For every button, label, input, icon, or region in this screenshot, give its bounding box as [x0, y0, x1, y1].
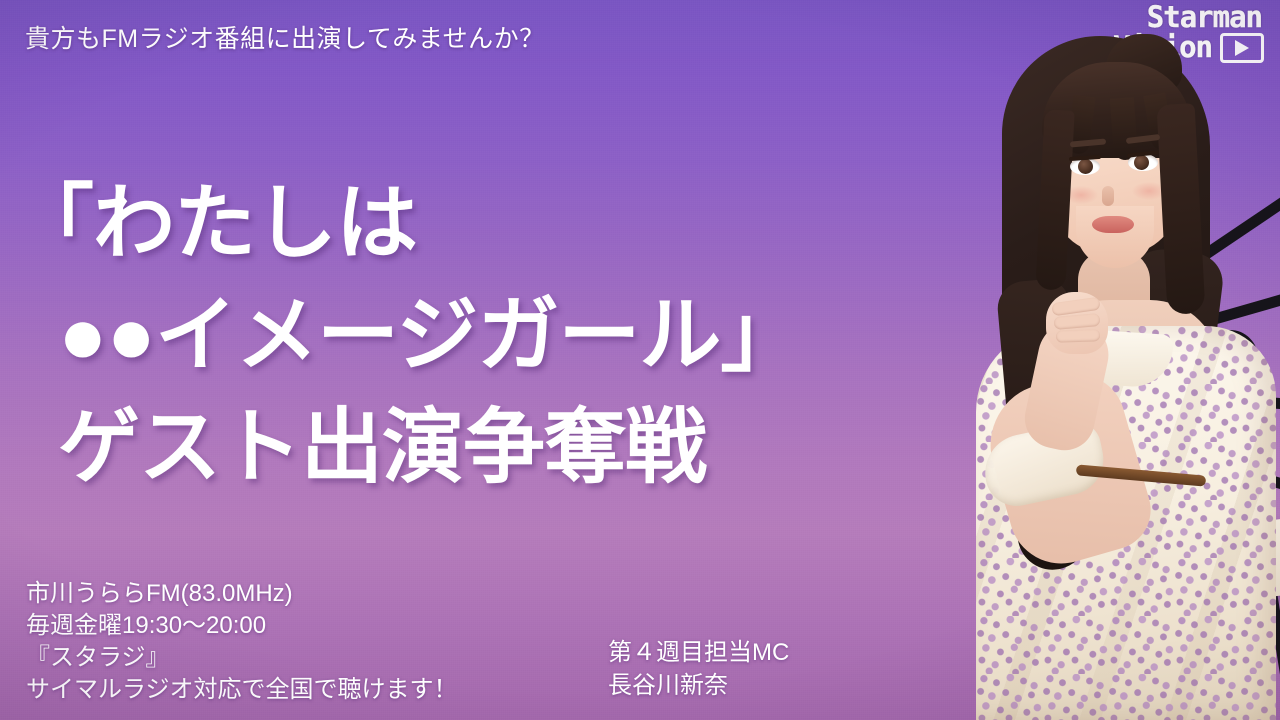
- hair-bang-strand-2: [1110, 97, 1138, 161]
- title-line-2: ●●イメージガール」: [0, 280, 960, 392]
- mc-role: 第４週目担当MC: [608, 636, 789, 669]
- station-name: 市川うららFM(83.0MHz): [26, 578, 458, 610]
- main-title: 「わたしは ●●イメージガール」 ゲスト出演争奪戦: [0, 168, 960, 504]
- program-name: 『スタラジ』: [26, 642, 458, 674]
- iris-right: [1134, 155, 1149, 170]
- nose: [1102, 186, 1114, 206]
- promo-banner: 貴方もFMラジオ番組に出演してみませんか？ Starman Vision 「わた…: [0, 0, 1280, 720]
- title-line-3: ゲスト出演争奪戦: [0, 392, 960, 504]
- iris-left: [1078, 159, 1093, 174]
- simulcast-note: サイマルラジオ対応で全国で聴けます！: [26, 674, 458, 706]
- lips: [1092, 216, 1134, 233]
- title-line-1: 「わたしは: [0, 168, 960, 280]
- play-triangle-icon: [1220, 33, 1264, 63]
- mc-name: 長谷川新奈: [608, 669, 789, 702]
- logo-text-starman: Starman: [1054, 4, 1264, 32]
- header-tagline: 貴方もFMラジオ番組に出演してみませんか？: [25, 19, 545, 55]
- mc-credit: 第４週目担当MC 長谷川新奈: [608, 636, 789, 702]
- broadcast-schedule: 毎週金曜19:30〜20:00: [26, 610, 458, 642]
- broadcast-info: 市川うららFM(83.0MHz) 毎週金曜19:30〜20:00 『スタラジ』 …: [26, 578, 458, 706]
- finger-3: [1056, 329, 1100, 343]
